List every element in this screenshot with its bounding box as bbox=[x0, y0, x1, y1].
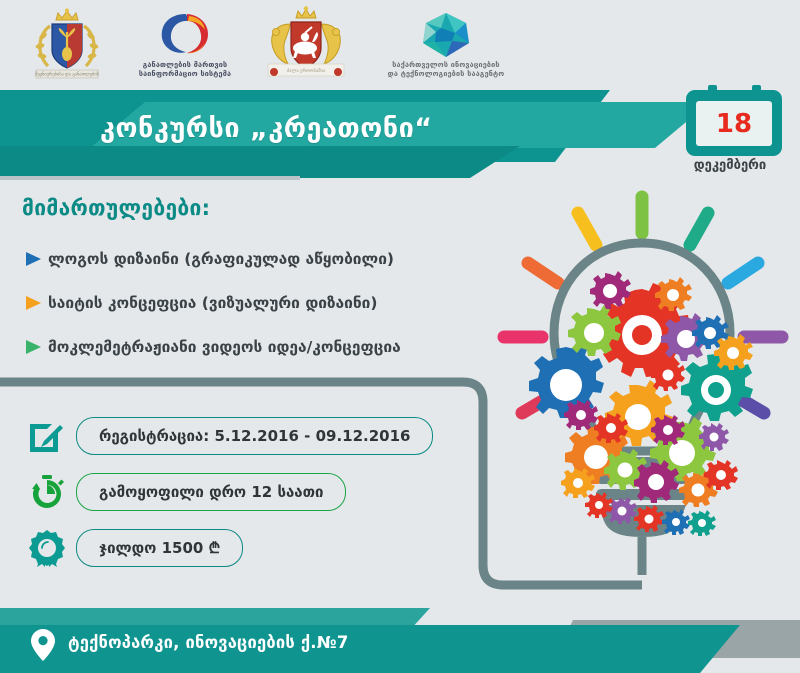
calendar-badge: 18 bbox=[686, 90, 782, 156]
info-row-prize: ჯილდო 1500 ₾ bbox=[18, 520, 488, 576]
coat-of-arms-icon: ძალა ერთობაშია bbox=[260, 6, 352, 84]
gear-small-crimson bbox=[651, 358, 685, 391]
calendar-day: 18 bbox=[696, 101, 772, 146]
direction-label-3: მოკლემეტრაჟიანი ვიდეოს იდეა/კონცეფცია bbox=[48, 338, 401, 356]
header-underline bbox=[0, 176, 300, 180]
info-pill-registration: რეგისტრაცია: 5.12.2016 - 09.12.2016 bbox=[76, 417, 433, 455]
gita-logo-caption: საქართველოს ინოვაციების და ტექნოლოგიების… bbox=[388, 60, 505, 78]
emis-swirl-icon bbox=[156, 10, 214, 58]
emis-logo: განათლების მართვის საინფორმაციო სისტემა bbox=[120, 10, 250, 78]
ministry-emblem-logo: მეცნიერებისა და განათლების bbox=[22, 8, 112, 82]
footer-bar: ტექნოპარკი, ინოვაციების ქ.№7 bbox=[0, 608, 800, 673]
emis-logo-caption: განათლების მართვის საინფორმაციო სისტემა bbox=[139, 60, 231, 78]
gear-tiny-blue bbox=[662, 509, 690, 535]
award-rosette-icon bbox=[18, 528, 76, 568]
lightbulb-with-gears-illustration bbox=[470, 185, 800, 605]
info-pill-duration: გამოყოფილი დრო 12 საათი bbox=[76, 473, 346, 511]
bullet-arrow-icon bbox=[22, 249, 48, 269]
direction-item-1: ლოგოს დიზაინი (გრაფიკულად აწყობილი) bbox=[22, 240, 502, 278]
gita-gem-icon bbox=[419, 12, 473, 58]
gear-tiny-lilac bbox=[699, 423, 729, 451]
calendar-month: დეკემბერი bbox=[660, 158, 800, 173]
gear-tiny-teal bbox=[688, 510, 716, 536]
footer-location-text: ტექნოპარკი, ინოვაციების ქ.№7 bbox=[68, 633, 349, 652]
edit-pencil-icon bbox=[18, 416, 76, 456]
stopwatch-icon bbox=[18, 472, 76, 512]
directions-heading: მიმართულებები: bbox=[22, 196, 210, 220]
page-title: კონკურსი „კრეათონი“ bbox=[100, 98, 600, 158]
directions-list: ლოგოს დიზაინი (გრაფიკულად აწყობილი) საიტ… bbox=[22, 240, 502, 372]
georgia-coat-of-arms-logo: ძალა ერთობაშია bbox=[258, 6, 354, 84]
poster-root: მეცნიერებისა და განათლების განათლების მა… bbox=[0, 0, 800, 673]
map-pin-icon bbox=[30, 628, 56, 662]
bullet-arrow-icon bbox=[22, 337, 48, 357]
direction-item-2: საიტის კონცეფცია (ვიზუალური დიზაინი) bbox=[22, 284, 502, 322]
info-row-duration: გამოყოფილი დრო 12 საათი bbox=[18, 464, 488, 520]
direction-label-1: ლოგოს დიზაინი (გრაფიკულად აწყობილი) bbox=[48, 250, 394, 268]
gear-tiny-red3 bbox=[704, 460, 738, 490]
gear-small-orange bbox=[655, 277, 692, 311]
info-row-registration: რეგისტრაცია: 5.12.2016 - 09.12.2016 bbox=[18, 408, 488, 464]
svg-text:ძალა ერთობაშია: ძალა ერთობაშია bbox=[287, 67, 326, 74]
direction-item-3: მოკლემეტრაჟიანი ვიდეოს იდეა/კონცეფცია bbox=[22, 328, 502, 366]
bullet-arrow-icon bbox=[22, 293, 48, 313]
info-pill-prize: ჯილდო 1500 ₾ bbox=[76, 529, 243, 567]
ministry-emblem-icon: მეცნიერებისა და განათლების bbox=[28, 8, 106, 82]
svg-text:მეცნიერებისა და განათლების: მეცნიერებისა და განათლების bbox=[35, 71, 100, 78]
direction-label-2: საიტის კონცეფცია (ვიზუალური დიზაინი) bbox=[48, 294, 377, 312]
gita-logo: საქართველოს ინოვაციების და ტექნოლოგიების… bbox=[378, 12, 514, 78]
calendar-ring-left bbox=[708, 85, 717, 94]
logo-strip: მეცნიერებისა და განათლების განათლების მა… bbox=[0, 0, 800, 90]
calendar-ring-right bbox=[752, 85, 761, 94]
info-rows: რეგისტრაცია: 5.12.2016 - 09.12.2016 გამო… bbox=[18, 408, 488, 576]
gear-cluster bbox=[529, 271, 753, 536]
